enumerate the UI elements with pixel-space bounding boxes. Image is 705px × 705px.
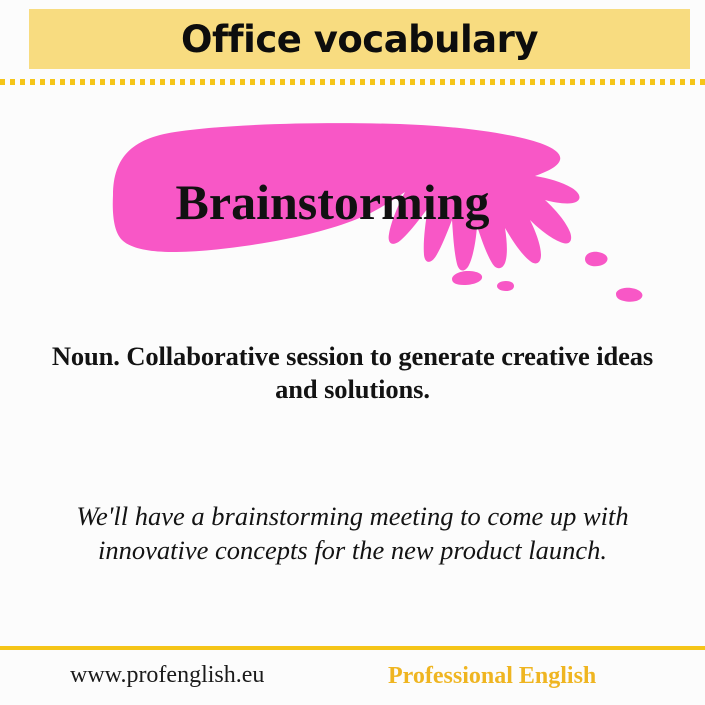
hero-section: Brainstorming (0, 100, 705, 330)
footer-rule (0, 646, 705, 650)
headword: Brainstorming (176, 177, 490, 227)
definition-text: Noun. Collaborative session to generate … (50, 340, 655, 407)
headword-container: Brainstorming (0, 100, 705, 330)
example-sentence: We'll have a brainstorming meeting to co… (45, 500, 660, 568)
vocabulary-card: Office vocabulary Brainstorming Noun. Co… (0, 0, 705, 705)
dotted-divider (0, 79, 705, 85)
page-title: Office vocabulary (181, 21, 538, 58)
footer-website-url[interactable]: www.profenglish.eu (70, 662, 264, 689)
footer-brand-name: Professional English (388, 663, 596, 690)
header-banner: Office vocabulary (29, 9, 690, 69)
footer: www.profenglish.eu Professional English (0, 656, 705, 705)
